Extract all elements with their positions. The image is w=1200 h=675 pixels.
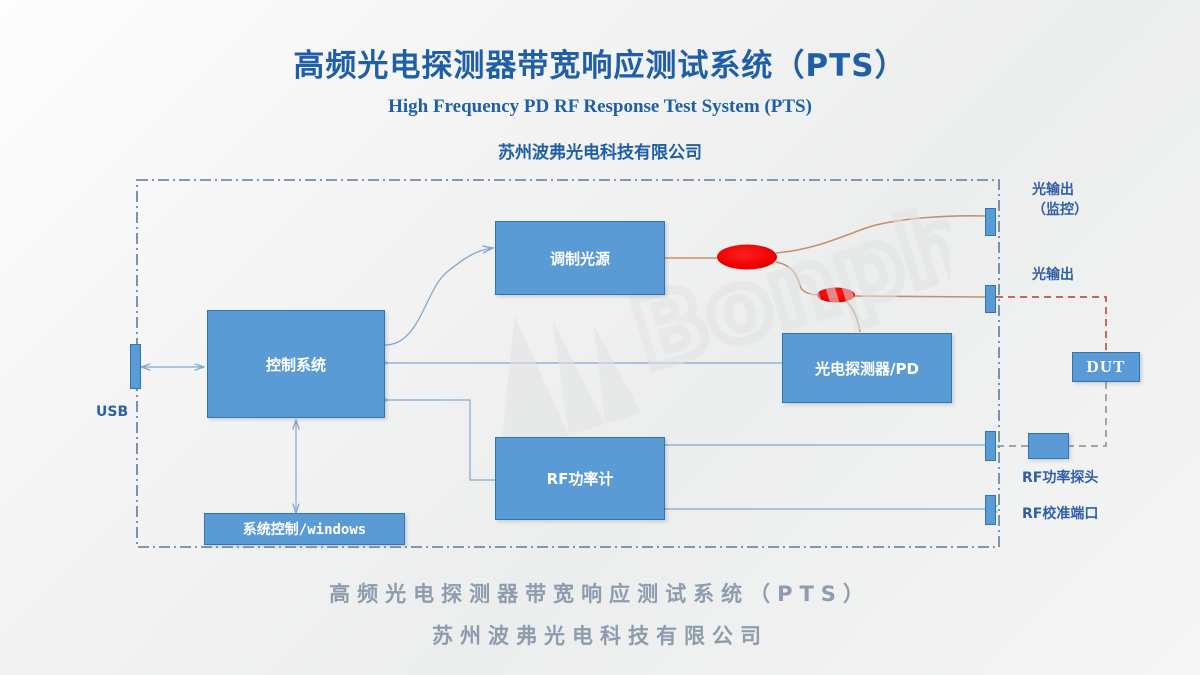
- label-rf-power-probe: RF功率探头: [1022, 468, 1098, 488]
- block-system-control-windows-label: 系统控制/windows: [243, 519, 366, 539]
- port-usb[interactable]: [130, 344, 141, 389]
- port-optical-out[interactable]: [985, 285, 996, 313]
- label-optical-out-monitor: 光输出 （监控）: [1032, 180, 1088, 220]
- footer-line-2: 苏州波弗光电科技有限公司: [0, 620, 1200, 650]
- block-rf-power-meter[interactable]: RF功率计: [495, 437, 665, 520]
- port-rf-power-probe[interactable]: [985, 431, 996, 461]
- block-control-system[interactable]: 控制系统: [207, 310, 385, 418]
- block-system-control-windows[interactable]: 系统控制/windows: [204, 513, 405, 545]
- port-optical-out-monitor[interactable]: [985, 208, 996, 236]
- block-modulated-source[interactable]: 调制光源: [495, 221, 665, 295]
- block-dut-label: DUT: [1087, 357, 1126, 377]
- optical-coupler-small: [817, 288, 855, 303]
- footer-line-1: 高频光电探测器带宽响应测试系统（PTS）: [0, 578, 1200, 608]
- block-control-system-label: 控制系统: [266, 354, 326, 375]
- diagram-canvas: [0, 0, 1200, 675]
- block-rf-power-meter-label: RF功率计: [547, 468, 614, 489]
- port-rf-calibration[interactable]: [985, 495, 996, 525]
- block-rf-power-probe[interactable]: [1028, 433, 1069, 459]
- block-photodetector[interactable]: 光电探测器/PD: [782, 333, 952, 403]
- label-optical-out: 光输出: [1032, 265, 1074, 285]
- block-photodetector-label: 光电探测器/PD: [815, 358, 919, 379]
- label-usb: USB: [96, 402, 128, 422]
- optical-dut-path: [996, 297, 1106, 352]
- optical-coupler-large: [717, 245, 777, 270]
- label-rf-calibration-port: RF校准端口: [1022, 504, 1098, 524]
- block-dut[interactable]: DUT: [1072, 352, 1140, 382]
- block-modulated-source-label: 调制光源: [550, 248, 610, 269]
